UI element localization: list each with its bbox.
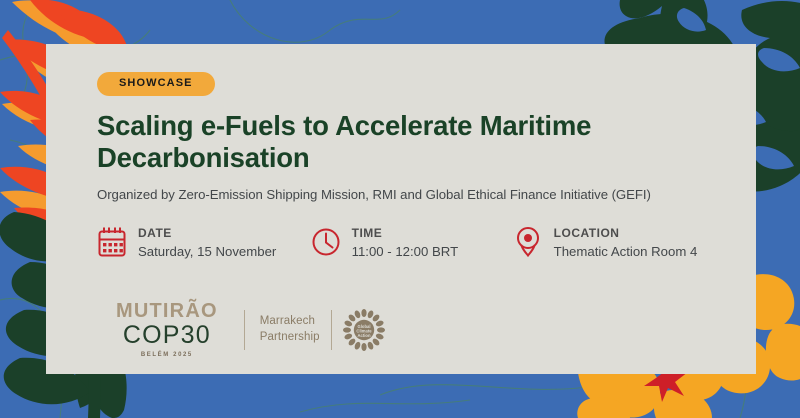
showcase-badge: SHOWCASE (97, 72, 215, 96)
meta-item-date: DATE Saturday, 15 November (97, 225, 311, 259)
meta-label-location: LOCATION (554, 227, 698, 240)
event-poster: SHOWCASE Scaling e-Fuels to Accelerate M… (0, 0, 800, 418)
page-title: Scaling e-Fuels to Accelerate Maritime D… (97, 110, 697, 175)
meta-label-date: DATE (138, 227, 276, 240)
marrakech-line-1: Marrakech (260, 314, 320, 330)
event-meta-row: DATE Saturday, 15 November TIME 11:0 (97, 225, 734, 259)
marrakech-line-2: Partnership (260, 330, 320, 346)
clock-icon (311, 226, 341, 258)
card-content: SHOWCASE Scaling e-Fuels to Accelerate M… (97, 72, 734, 259)
calendar-icon (97, 226, 127, 258)
cop30-wordmark: COP30 (116, 323, 218, 348)
mutirao-wordmark: MUTIRÃO (116, 300, 218, 322)
emblem-line-3: Action (357, 332, 370, 337)
marrakech-partnership-logo: Marrakech Partnership (260, 314, 320, 345)
meta-text-location: LOCATION Thematic Action Room 4 (554, 225, 698, 259)
logo-divider-2 (331, 310, 332, 350)
meta-item-location: LOCATION Thematic Action Room 4 (513, 225, 734, 259)
event-card: SHOWCASE Scaling e-Fuels to Accelerate M… (46, 44, 756, 374)
meta-value-time: 11:00 - 12:00 BRT (352, 244, 459, 259)
organizer-line: Organized by Zero-Emission Shipping Miss… (97, 187, 734, 202)
meta-item-time: TIME 11:00 - 12:00 BRT (311, 225, 513, 259)
meta-label-time: TIME (352, 227, 459, 240)
logo-row: MUTIRÃO COP30 BELÉM 2025 Marrakech Partn… (116, 301, 385, 358)
logo-divider-1 (244, 310, 245, 350)
global-climate-action-emblem: Global Climate Action (343, 309, 385, 351)
belem-2025-label: BELÉM 2025 (116, 352, 218, 358)
map-pin-icon (513, 226, 543, 258)
cop30-logo: MUTIRÃO COP30 BELÉM 2025 (116, 301, 218, 358)
meta-value-date: Saturday, 15 November (138, 244, 276, 259)
meta-text-time: TIME 11:00 - 12:00 BRT (352, 225, 459, 259)
meta-value-location: Thematic Action Room 4 (554, 244, 698, 259)
meta-text-date: DATE Saturday, 15 November (138, 225, 276, 259)
